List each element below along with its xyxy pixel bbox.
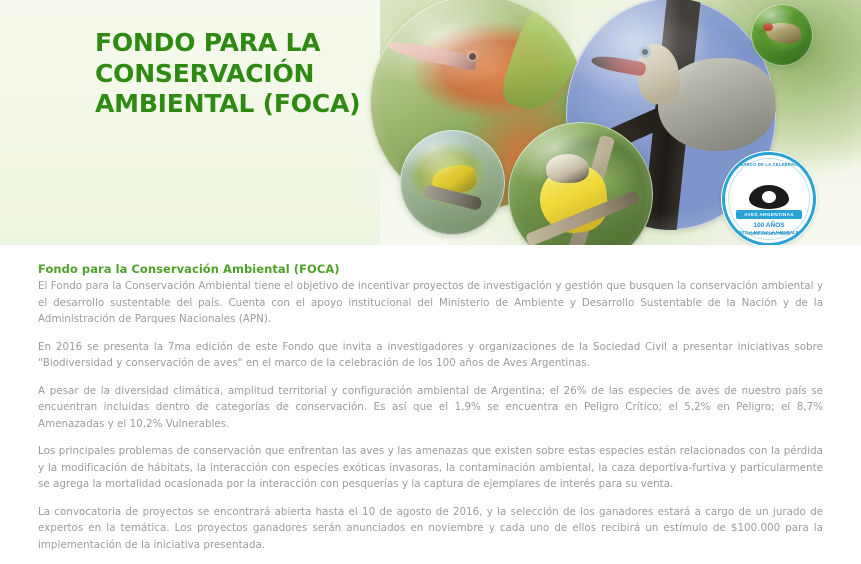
heron-eye-shape xyxy=(642,49,648,55)
hero-title: FONDO PARA LA CONSERVACIÓN AMBIENTAL (FO… xyxy=(95,28,395,120)
centenary-seal-logo: EN EL MARCO DE LA CELEBRACIÓN DEL CENTEN… xyxy=(722,152,816,245)
seal-years-text: 100 AÑOS xyxy=(725,222,813,229)
beak-shape xyxy=(387,37,478,70)
hero-banner: FONDO PARA LA CONSERVACIÓN AMBIENTAL (FO… xyxy=(0,0,861,245)
paragraph-1: El Fondo para la Conservación Ambiental … xyxy=(38,278,823,328)
paragraph-5: La convocatoria de proyectos se encontra… xyxy=(38,504,823,554)
seal-rim-bottom-text: AVES ARGENTINAS xyxy=(725,231,813,236)
seal-rim-top-text: EN EL MARCO DE LA CELEBRACIÓN DEL CENTEN… xyxy=(725,162,813,167)
article-body: Fondo para la Conservación Ambiental (FO… xyxy=(0,245,861,564)
woodpecker-bubble xyxy=(751,4,813,66)
eye-shape xyxy=(469,53,476,60)
bird-head-shape xyxy=(546,154,590,183)
paragraph-2: En 2016 se presenta la 7ma edición de es… xyxy=(38,339,823,372)
paragraph-3: A pesar de la diversidad climática, ampl… xyxy=(38,383,823,433)
paragraph-4: Los principales problemas de conservació… xyxy=(38,443,823,493)
aves-argentinas-eye-icon xyxy=(749,185,789,209)
yellow-finch-bubble xyxy=(400,130,505,235)
seal-banner-text: AVES ARGENTINAS xyxy=(736,210,802,219)
section-heading: Fondo para la Conservación Ambiental (FO… xyxy=(38,262,823,277)
